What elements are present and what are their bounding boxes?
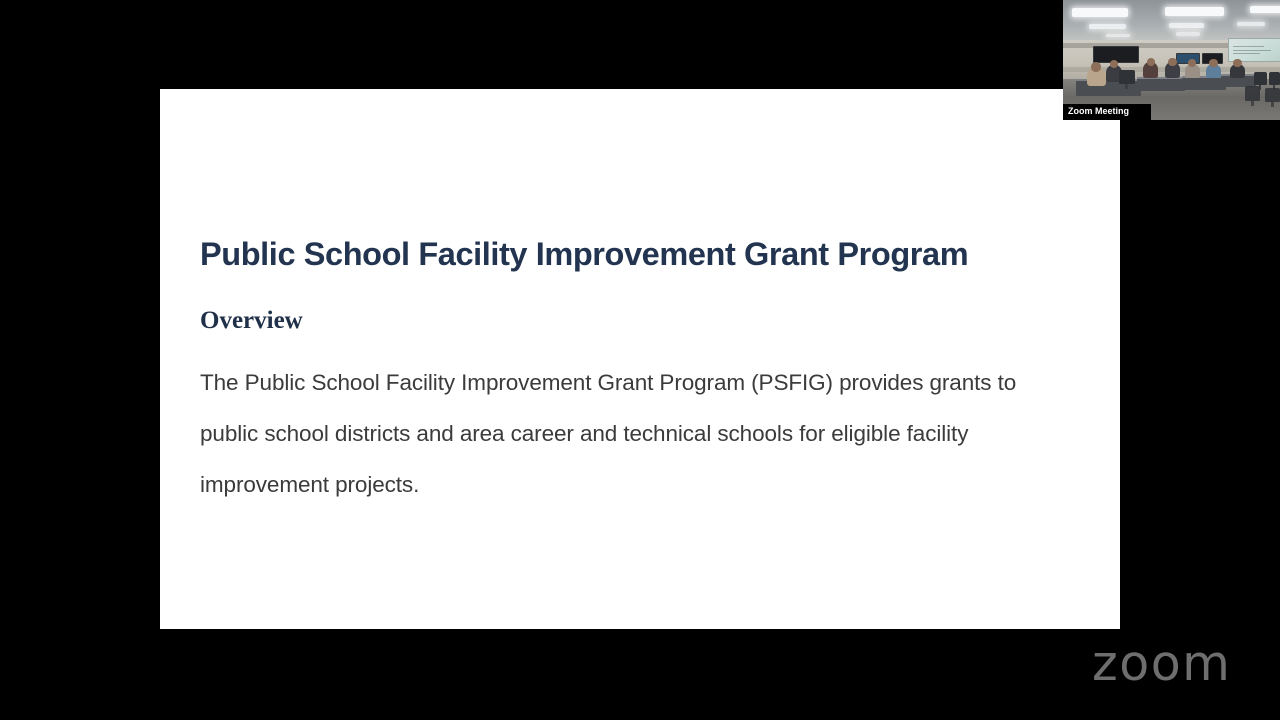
video-scene — [1063, 0, 1280, 120]
slide-subheading: Overview — [200, 307, 303, 335]
chair — [1269, 72, 1280, 85]
video-thumbnail[interactable]: Zoom Meeting — [1063, 0, 1280, 120]
slide-title: Public School Facility Improvement Grant… — [200, 237, 968, 272]
participant-head — [1168, 58, 1177, 66]
chair — [1254, 72, 1267, 85]
zoom-meeting-stage: Public School Facility Improvement Grant… — [0, 0, 1280, 720]
chair — [1119, 70, 1134, 84]
ceiling-light-icon — [1072, 8, 1128, 16]
chair — [1265, 88, 1280, 102]
thumbnail-label: Zoom Meeting — [1063, 104, 1151, 120]
ceiling-light-icon — [1176, 32, 1200, 36]
ceiling-plane — [1063, 0, 1280, 41]
ceiling-light-icon — [1165, 7, 1224, 15]
participant-head — [1147, 58, 1156, 66]
ceiling-light-icon — [1089, 24, 1126, 29]
ceiling-light-icon — [1250, 6, 1280, 13]
ceiling-light-icon — [1237, 22, 1265, 27]
participant-head — [1091, 62, 1101, 72]
chair — [1245, 86, 1260, 100]
zoom-watermark: zoom — [1092, 636, 1231, 692]
ceiling-light-icon — [1106, 34, 1130, 38]
shared-screen-slide: Public School Facility Improvement Grant… — [160, 89, 1120, 629]
slide-body-text: The Public School Facility Improvement G… — [200, 357, 1030, 510]
ceiling-light-icon — [1169, 23, 1204, 28]
conference-table — [1137, 77, 1185, 91]
